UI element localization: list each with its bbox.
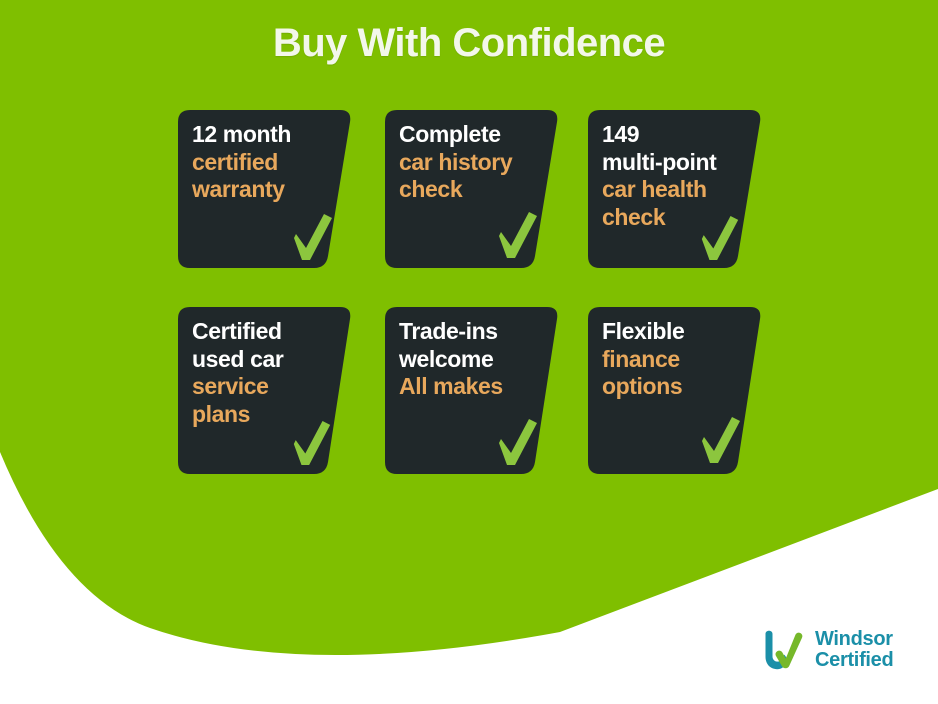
card-line: 149 xyxy=(602,121,742,149)
check-mark-icon xyxy=(290,212,336,262)
poster-canvas: Buy With Confidence 12 month certified w… xyxy=(0,0,938,704)
card-text-block: Flexible finance options xyxy=(602,318,742,401)
card-text-block: Complete car history check xyxy=(399,121,539,204)
card-line: car history xyxy=(399,149,539,177)
card-text-block: Certified used car service plans xyxy=(192,318,332,428)
card-line: options xyxy=(602,373,742,401)
card-text-block: Trade-ins welcome All makes xyxy=(399,318,539,401)
logo-wordmark: Windsor Certified xyxy=(815,629,893,671)
card-line: car health xyxy=(602,176,742,204)
card-line: welcome xyxy=(399,346,539,374)
card-line: certified xyxy=(192,149,332,177)
card-text-block: 12 month certified warranty xyxy=(192,121,332,204)
check-mark-icon xyxy=(495,210,541,260)
windsor-certified-logo[interactable]: Windsor Certified xyxy=(762,628,893,672)
check-mark-icon xyxy=(495,417,541,467)
card-line: check xyxy=(399,176,539,204)
card-line: Flexible xyxy=(602,318,742,346)
card-line: finance xyxy=(602,346,742,374)
card-line: All makes xyxy=(399,373,539,401)
card-line: used car xyxy=(192,346,332,374)
card-line: multi-point xyxy=(602,149,742,177)
card-line: 12 month xyxy=(192,121,332,149)
feature-card-grid: 12 month certified warranty Complete car… xyxy=(0,0,938,704)
card-line: Certified xyxy=(192,318,332,346)
windsor-w-logo-icon xyxy=(762,628,806,672)
card-line: Trade-ins xyxy=(399,318,539,346)
check-mark-icon xyxy=(290,419,334,467)
card-line: Complete xyxy=(399,121,539,149)
card-line: warranty xyxy=(192,176,332,204)
logo-line-1: Windsor xyxy=(815,629,893,650)
check-mark-icon xyxy=(698,214,742,262)
logo-line-2: Certified xyxy=(815,650,893,671)
check-mark-icon xyxy=(698,415,744,465)
card-line: service xyxy=(192,373,332,401)
